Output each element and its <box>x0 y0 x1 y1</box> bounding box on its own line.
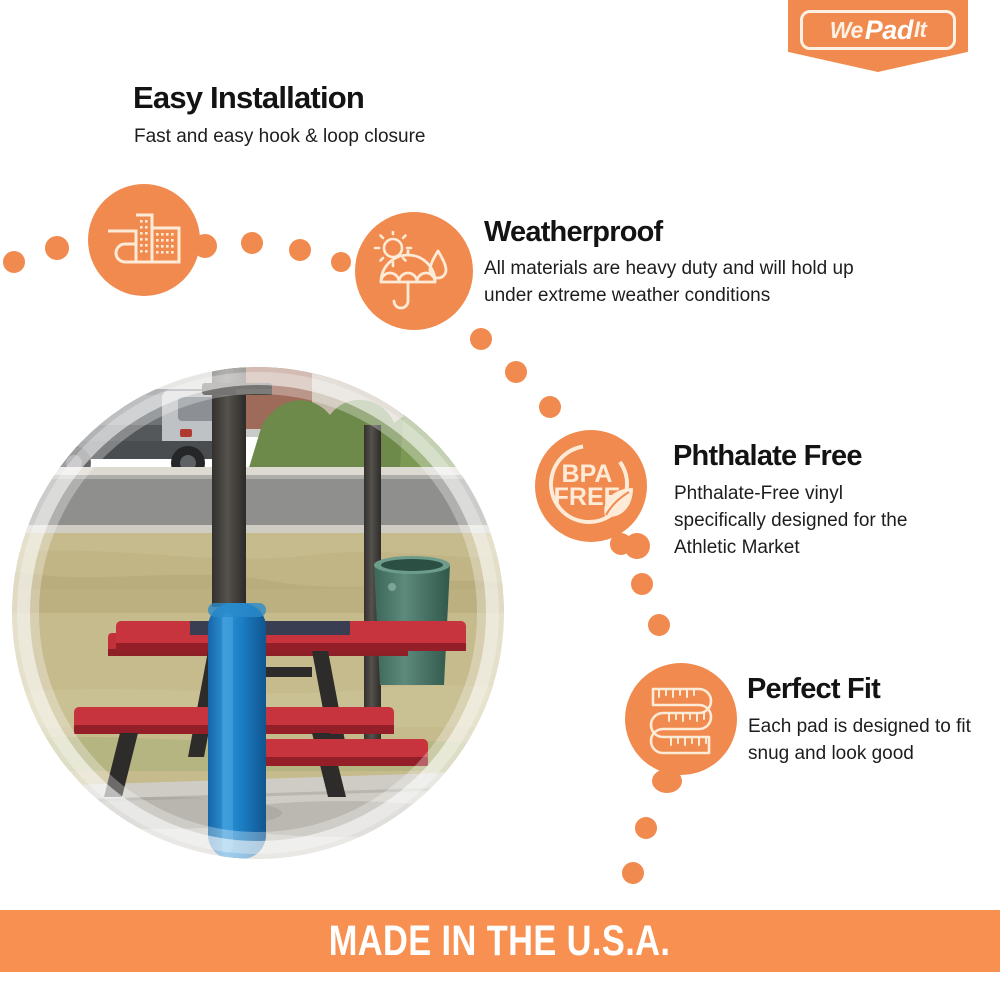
infographic-page: We Pad It Easy Installation Fast and eas… <box>0 0 1000 987</box>
connector-dot <box>635 817 657 839</box>
feature-title-perfect-fit: Perfect Fit <box>747 673 880 706</box>
feature-title-easy-installation: Easy Installation <box>133 80 364 116</box>
connector-dot <box>241 232 263 254</box>
brand-logo-we: We <box>830 17 863 44</box>
connector-dot <box>648 614 670 636</box>
perfect-fit-icon-nub <box>652 769 682 793</box>
brand-logo-pad: Pad <box>865 15 913 46</box>
feature-description-weatherproof: All materials are heavy duty and will ho… <box>484 256 894 310</box>
connector-dot <box>470 328 492 350</box>
brand-logo-it: It <box>914 17 926 43</box>
product-photo <box>12 367 504 859</box>
hook-and-loop-strap-icon <box>88 184 200 296</box>
feature-description-perfect-fit: Each pad is designed to fit snug and loo… <box>748 714 973 768</box>
made-in-usa-banner: MADE IN THE U.S.A. <box>0 910 1000 972</box>
connector-dot <box>631 573 653 595</box>
feature-description-phthalate-free: Phthalate-Free vinyl specifically design… <box>674 481 930 562</box>
connector-dot <box>622 862 644 884</box>
connector-dot <box>331 252 351 272</box>
made-in-usa-label: MADE IN THE U.S.A. <box>329 917 671 966</box>
connector-dot <box>505 361 527 383</box>
sun-umbrella-raindrop-icon <box>355 212 473 330</box>
connector-dot <box>289 239 311 261</box>
connector-dot <box>539 396 561 418</box>
feature-title-weatherproof: Weatherproof <box>484 216 662 249</box>
connector-dot <box>45 236 69 260</box>
bpa-icon-nub <box>624 533 650 559</box>
measuring-tape-icon <box>625 663 737 775</box>
bpa-free-leaf-icon: BPA FREE <box>535 430 647 542</box>
brand-logo-pill: We Pad It <box>800 10 956 50</box>
brand-logo: We Pad It <box>788 0 968 72</box>
feature-title-phthalate-free: Phthalate Free <box>673 440 862 473</box>
connector-dot <box>3 251 25 273</box>
feature-description-easy-installation: Fast and easy hook & loop closure <box>134 124 554 151</box>
